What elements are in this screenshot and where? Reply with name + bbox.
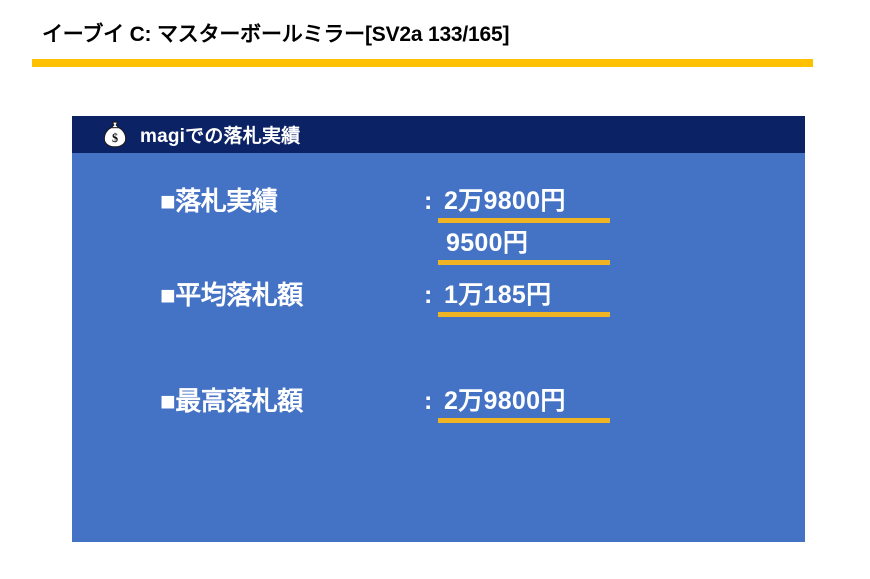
value-text: 2万9800円 [444, 185, 566, 217]
title-underline-rule [32, 59, 813, 67]
card-header: $ magiでの落札実績 [72, 116, 805, 153]
stat-label: ■落札実績 [160, 184, 277, 218]
value-line: : 2万9800円 [424, 384, 744, 426]
value-line: : 1万185円 [424, 278, 744, 320]
stat-values: : 1万185円 [424, 278, 744, 320]
card-header-title: magiでの落札実績 [140, 121, 300, 148]
money-bag-icon: $ [100, 120, 130, 150]
svg-text:$: $ [112, 130, 118, 144]
value-colon: : [424, 185, 432, 217]
value-text: 2万9800円 [444, 385, 566, 417]
value-text: 9500円 [446, 227, 528, 259]
value-colon: : [424, 385, 432, 417]
title-block: イーブイ C: マスターボールミラー[SV2a 133/165] [0, 0, 870, 80]
page-title: イーブイ C: マスターボールミラー[SV2a 133/165] [42, 21, 509, 49]
stat-label: ■最高落札額 [160, 384, 303, 418]
value-underline [438, 312, 610, 317]
value-underline [438, 260, 610, 265]
stat-values: : 2万9800円 9500円 [424, 184, 744, 268]
value-text: 1万185円 [444, 279, 551, 311]
stat-values: : 2万9800円 [424, 384, 744, 426]
auction-result-card: $ magiでの落札実績 ■落札実績 : 2万9800円 9500円 ■平均落札… [72, 116, 805, 542]
value-underline [438, 218, 610, 223]
value-colon: : [424, 279, 432, 311]
value-underline [438, 418, 610, 423]
value-line: : 2万9800円 [424, 184, 744, 226]
stat-label: ■平均落札額 [160, 278, 303, 312]
value-line: 9500円 [424, 226, 744, 268]
